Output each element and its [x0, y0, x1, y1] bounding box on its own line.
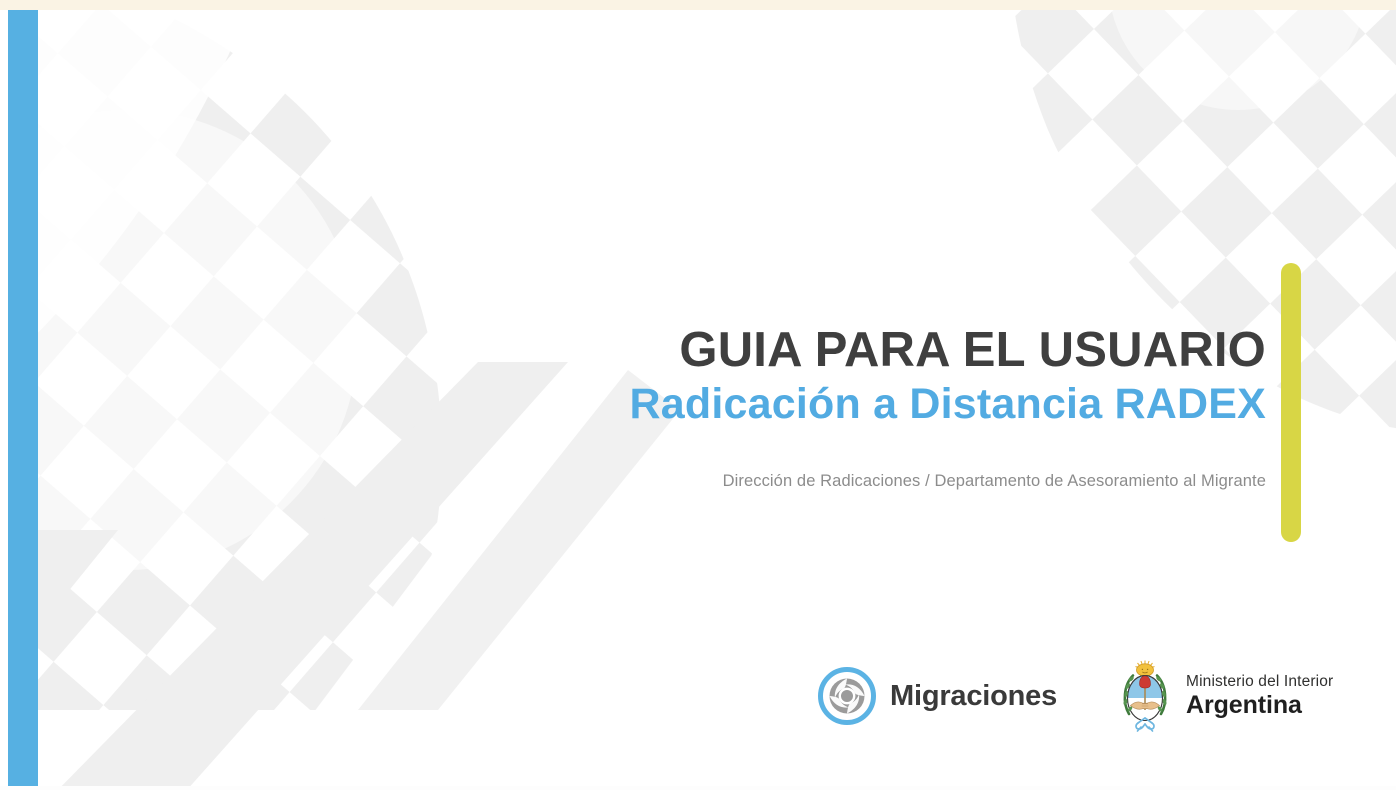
page-border-left	[0, 10, 8, 790]
argentina-country-label: Argentina	[1186, 691, 1333, 719]
argentina-label-block: Ministerio del Interior Argentina	[1186, 673, 1333, 718]
page-border-top	[0, 0, 1396, 10]
slide-canvas: GUIA PARA EL USUARIO Radicación a Distan…	[8, 10, 1396, 786]
title-block: GUIA PARA EL USUARIO Radicación a Distan…	[308, 325, 1266, 491]
page-caption: Dirección de Radicaciones / Departamento…	[308, 472, 1266, 491]
migraciones-logo: Migraciones	[818, 667, 1057, 725]
yellow-accent-pill	[1281, 263, 1301, 542]
argentina-ministry-label: Ministerio del Interior	[1186, 673, 1333, 690]
migraciones-globe-icon	[818, 667, 876, 725]
slide-page: GUIA PARA EL USUARIO Radicación a Distan…	[0, 0, 1396, 790]
page-title: GUIA PARA EL USUARIO	[308, 325, 1266, 376]
blue-accent-bar	[8, 10, 38, 786]
argentina-logo: Ministerio del Interior Argentina	[1117, 658, 1333, 734]
page-border-bottom	[0, 786, 1396, 790]
page-subtitle: Radicación a Distancia RADEX	[308, 380, 1266, 428]
migraciones-label: Migraciones	[890, 680, 1057, 713]
footer-logo-row: Migraciones	[818, 653, 1318, 739]
argentina-coat-of-arms-icon	[1117, 658, 1173, 734]
